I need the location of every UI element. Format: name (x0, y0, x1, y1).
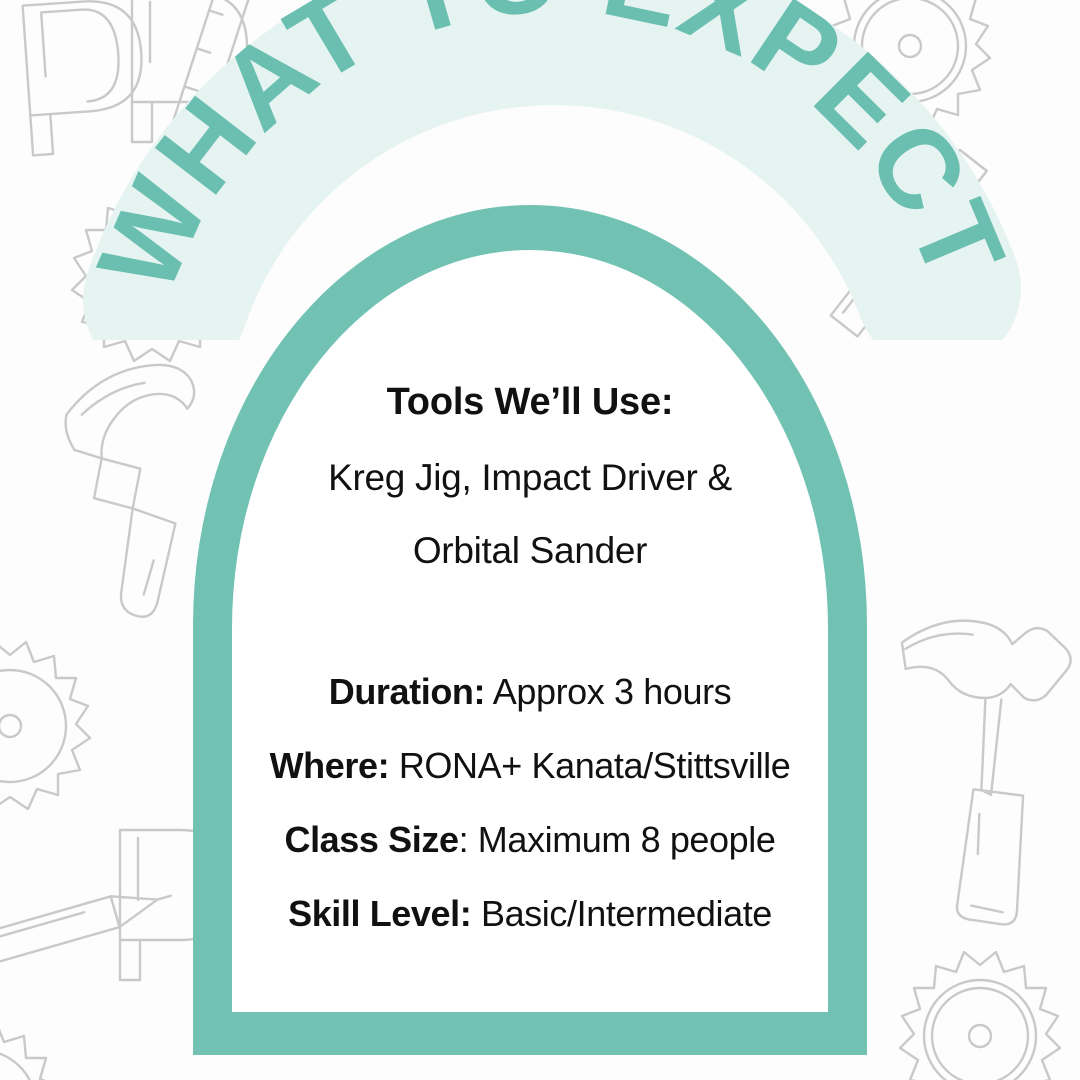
detail-label-duration: Duration: (329, 671, 485, 712)
arch-inner-panel: Tools We’ll Use: Kreg Jig, Impact Driver… (232, 250, 828, 1012)
tools-heading: Tools We’ll Use: (232, 380, 828, 426)
detail-list: Duration: Approx 3 hours Where: RONA+ Ka… (210, 674, 850, 932)
detail-label-where: Where: (270, 745, 390, 786)
tools-line-1: Kreg Jig, Impact Driver & (222, 455, 838, 501)
detail-row-where: Where: RONA+ Kanata/Stittsville (210, 748, 850, 784)
saw-blade-doodle (0, 642, 90, 809)
banner: WHAT TO EXPECT (0, 0, 1080, 340)
detail-value-duration: Approx 3 hours (485, 671, 731, 712)
detail-row-duration: Duration: Approx 3 hours (210, 674, 850, 710)
saw-blade-doodle (0, 1022, 60, 1080)
poster-canvas: Tools We’ll Use: Kreg Jig, Impact Driver… (0, 0, 1080, 1080)
detail-value-skill-level: Basic/Intermediate (471, 893, 772, 934)
detail-label-class-size: Class Size (284, 819, 458, 860)
arch-content: Tools We’ll Use: Kreg Jig, Impact Driver… (232, 250, 828, 1012)
detail-value-where: RONA+ Kanata/Stittsville (389, 745, 790, 786)
pencil-doodle (0, 880, 175, 968)
detail-row-class-size: Class Size: Maximum 8 people (210, 822, 850, 858)
detail-label-skill-level: Skill Level: (288, 893, 471, 934)
saw-blade-doodle (900, 952, 1060, 1080)
hammer-doodle (878, 615, 1073, 928)
detail-value-class-size: : Maximum 8 people (459, 819, 776, 860)
tools-line-2: Orbital Sander (222, 528, 838, 574)
detail-row-skill-level: Skill Level: Basic/Intermediate (210, 896, 850, 932)
